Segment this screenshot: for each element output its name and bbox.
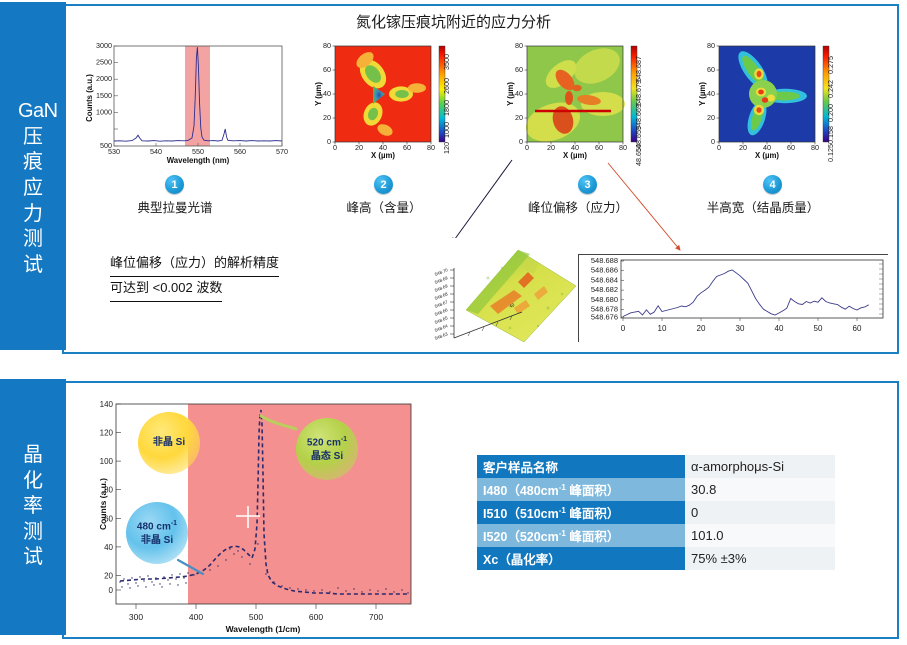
table-value-sample-name: α-amorphoμs-Si [685,455,835,478]
svg-text:Wavelength (1/cm): Wavelength (1/cm) [226,624,301,634]
svg-text:0.275: 0.275 [826,56,835,74]
svg-text:3500: 3500 [442,54,451,70]
svg-text:80: 80 [811,143,819,152]
sidebar-crystallinity-label: 晶化率测试 [18,443,48,571]
slide-root: GaN压痕应力测试 氮化镓压痕坑附近的应力分析 [0,0,907,645]
svg-text:0: 0 [109,586,114,595]
chart-peak-shift-map: 548.687 548.679 548.669 548.659 548.650 … [505,38,647,166]
svg-text:0: 0 [519,137,523,146]
table-key-i510: I510（510cm-1 峰面积） [477,501,685,524]
figure-badge-1: 1 [165,175,184,194]
table-key-xc: Xc（晶化率） [477,547,685,570]
svg-text:548.684: 548.684 [591,275,618,284]
svg-text:20: 20 [739,143,747,152]
svg-text:0: 0 [327,137,331,146]
svg-text:Y (µm): Y (µm) [506,82,515,106]
sidebar-gan-stress: GaN压痕应力测试 [0,2,66,350]
svg-text:2000: 2000 [96,74,112,83]
svg-text:1500: 1500 [96,91,112,100]
svg-text:1000: 1000 [442,122,451,138]
svg-text:10: 10 [658,324,667,333]
svg-text:548.650: 548.650 [634,144,643,166]
table-row: 客户样品名称 α-amorphoμs-Si [477,455,835,478]
svg-text:20: 20 [515,113,523,122]
chart-crystallinity-spectrum: 140 120 100 80 60 40 20 0 [98,394,428,634]
svg-text:40: 40 [515,89,523,98]
svg-text:Y (µm): Y (µm) [314,82,323,106]
crystallinity-results-table: 客户样品名称 α-amorphoμs-Si I480（480cm-1 峰面积） … [477,455,835,570]
svg-text:550: 550 [192,147,204,156]
svg-text:548.676: 548.676 [591,313,618,322]
svg-text:548.687: 548.687 [634,56,643,82]
bubble-amorphous-si-yellow: 非晶 Si [138,412,200,474]
precision-note-line2: 可达到 <0.002 波数 [110,277,222,302]
bubble-yellow-label: 非晶 Si [153,436,185,450]
svg-text:40: 40 [775,324,784,333]
table-value-i510: 0 [685,501,835,524]
table-value-i520: 101.0 [685,524,835,547]
table-key-i480: I480（480cm-1 峰面积） [477,478,685,501]
svg-text:60: 60 [323,65,331,74]
svg-text:2600: 2600 [442,78,451,94]
svg-text:548.70: 548.70 [434,267,449,277]
fwhm-map-svg: 0.275 0.242 0.200 0.158 0.125 02040 60 [697,38,839,166]
chart-raman-spectrum: 3000 2500 2000 1500 1000 500 530 540 [78,38,290,166]
svg-text:80: 80 [323,41,331,50]
precision-note-line1: 峰位偏移（应力）的解析精度 [110,252,279,277]
sidebar-gan-stress-label: GaN压痕应力测试 [18,74,48,279]
svg-text:20: 20 [104,571,113,580]
bubble-blue-line2: 非晶 Si [141,534,173,548]
svg-text:20: 20 [697,324,706,333]
svg-text:60: 60 [787,143,795,152]
table-value-xc: 75% ±3% [685,547,835,570]
svg-text:530: 530 [108,147,120,156]
svg-text:540: 540 [150,147,162,156]
svg-text:120: 120 [442,142,451,154]
panel-crystallinity: 晶化率测试 [0,377,907,645]
svg-text:50: 50 [814,324,823,333]
svg-text:Counts (a.u.): Counts (a.u.) [85,74,94,122]
figure-badge-2: 2 [374,175,393,194]
chart-line-profile: 548.688 548.686 548.684 548.682 548.680 … [578,254,888,342]
table-row: I520（520cm-1 峰面积） 101.0 [477,524,835,547]
panel-gan-stress: GaN压痕应力测试 氮化镓压痕坑附近的应力分析 [0,0,907,362]
figure-badge-4: 4 [763,175,782,194]
svg-text:0: 0 [621,324,626,333]
svg-text:X (µm): X (µm) [563,151,587,160]
table-value-i480: 30.8 [685,478,835,501]
svg-text:0.125: 0.125 [826,144,835,162]
surface-3d-svg: 548.70 548.69 548.69 548.68 548.67 548.6… [418,238,578,350]
bubble-blue-line1: 480 cm-1 [137,519,177,534]
svg-text:600: 600 [309,612,323,622]
precision-note: 峰位偏移（应力）的解析精度 可达到 <0.002 波数 [110,252,279,302]
svg-text:548.688: 548.688 [591,256,618,265]
table-row: I510（510cm-1 峰面积） 0 [477,501,835,524]
table-row: I480（480cm-1 峰面积） 30.8 [477,478,835,501]
svg-text:Wavelength (nm): Wavelength (nm) [167,156,230,165]
svg-text:60: 60 [515,65,523,74]
svg-text:40: 40 [104,543,113,552]
svg-text:548.680: 548.680 [591,295,618,304]
chart-peak-height-map: 3500 2600 1800 1000 120 02040 [313,38,455,166]
svg-text:300: 300 [129,612,143,622]
figure-caption-3: 峰位偏移（应力） [498,197,658,216]
svg-text:548.679: 548.679 [634,80,643,106]
svg-text:1800: 1800 [442,100,451,116]
svg-text:X (µm): X (µm) [755,151,779,160]
svg-text:80: 80 [515,41,523,50]
peak-shift-map-svg: 548.687 548.679 548.669 548.659 548.650 … [505,38,647,166]
svg-text:20: 20 [707,113,715,122]
svg-text:2500: 2500 [96,58,112,67]
bubble-crystalline-si-green: 520 cm-1 晶态 Si [296,418,358,480]
page-title: 氮化镓压痕坑附近的应力分析 [0,11,907,32]
svg-text:0.200: 0.200 [826,104,835,122]
peak-height-map-svg: 3500 2600 1800 1000 120 02040 [313,38,455,166]
table-row: Xc（晶化率） 75% ±3% [477,547,835,570]
sidebar-gan-cjk: 压痕应力测试 [23,126,43,276]
figure-caption-2: 峰高（含量） [304,197,464,216]
svg-text:400: 400 [189,612,203,622]
line-profile-svg: 548.688 548.686 548.684 548.682 548.680 … [579,255,889,343]
svg-text:40: 40 [323,89,331,98]
chart-fwhm-map: 0.275 0.242 0.200 0.158 0.125 02040 60 [697,38,839,166]
figure-badge-3: 3 [578,175,597,194]
svg-text:80: 80 [619,143,627,152]
sidebar-gan-latin: GaN [18,99,48,125]
svg-text:Counts (a.u.): Counts (a.u.) [98,478,108,530]
svg-text:140: 140 [100,400,114,409]
chart-3d-surface: 548.70 548.69 548.69 548.68 548.67 548.6… [418,238,578,350]
svg-text:120: 120 [100,429,114,438]
svg-text:1000: 1000 [96,107,112,116]
svg-text:20: 20 [547,143,555,152]
bubble-green-line1: 520 cm-1 [307,435,347,450]
table-key-sample-name: 客户样品名称 [477,455,685,478]
svg-text:20: 20 [355,143,363,152]
svg-text:0.158: 0.158 [826,126,835,144]
figure-caption-4: 半高宽（结晶质量） [683,197,843,216]
figure-caption-1: 典型拉曼光谱 [95,197,255,216]
svg-text:570: 570 [276,147,288,156]
raman-spectrum-svg: 3000 2500 2000 1500 1000 500 530 540 [78,38,290,166]
svg-text:0: 0 [525,143,529,152]
svg-text:3000: 3000 [96,41,112,50]
svg-text:0.242: 0.242 [826,80,835,98]
bubble-amorphous-si-blue: 480 cm-1 非晶 Si [126,502,188,564]
bubble-green-line2: 晶态 Si [311,450,343,464]
svg-text:80: 80 [427,143,435,152]
svg-text:548.686: 548.686 [591,266,618,275]
svg-text:40: 40 [707,89,715,98]
svg-text:80: 80 [707,41,715,50]
svg-text:20: 20 [323,113,331,122]
svg-text:0: 0 [717,143,721,152]
svg-text:548.682: 548.682 [591,285,618,294]
svg-text:100: 100 [100,457,114,466]
table-key-i520: I520（520cm-1 峰面积） [477,524,685,547]
svg-text:0: 0 [333,143,337,152]
svg-text:700: 700 [369,612,383,622]
svg-text:60: 60 [595,143,603,152]
svg-text:500: 500 [249,612,263,622]
svg-text:60: 60 [707,65,715,74]
svg-text:60: 60 [403,143,411,152]
svg-text:0: 0 [711,137,715,146]
svg-text:30: 30 [736,324,745,333]
svg-text:560: 560 [234,147,246,156]
svg-text:60: 60 [853,324,862,333]
svg-text:Y (µm): Y (µm) [698,82,707,106]
sidebar-crystallinity: 晶化率测试 [0,379,66,635]
svg-text:X (µm): X (µm) [371,151,395,160]
